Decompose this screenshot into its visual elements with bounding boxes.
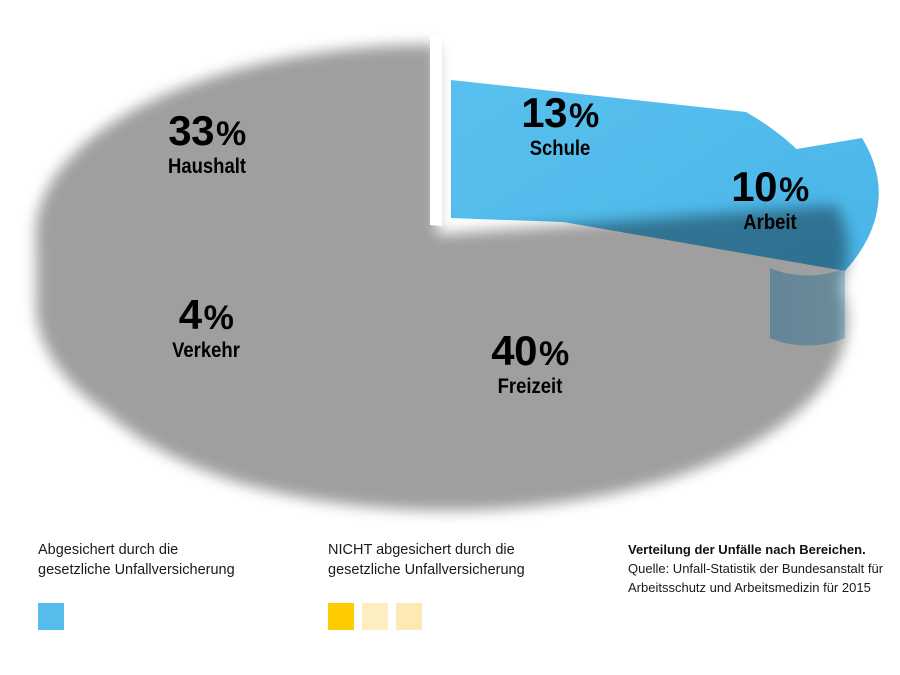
pie-explode-gap <box>430 35 442 226</box>
pie-chart-svg <box>0 0 900 530</box>
source-note-line1: Quelle: Unfall-Statistik der Bundesansta… <box>628 559 890 578</box>
legend-swatch-gold <box>328 603 354 630</box>
legend-not-insured-line1: NICHT abgesichert durch die <box>328 540 608 560</box>
legend-insured-swatches <box>38 603 64 630</box>
legend-insured-line1: Abgesichert durch die <box>38 540 308 560</box>
source-note-title: Verteilung der Unfälle nach Bereichen. <box>628 540 890 559</box>
legend-not-insured-line2: gesetzliche Unfallversicherung <box>328 560 608 580</box>
source-note: Verteilung der Unfälle nach Bereichen. Q… <box>628 540 890 597</box>
legend-insured-line2: gesetzliche Unfallversicherung <box>38 560 308 580</box>
pie-chart: 13% Schule 10% Arbeit 40% Freizeit 4% Ve… <box>0 0 900 530</box>
legend-swatch-cream-light <box>362 603 388 630</box>
chart-legend: Abgesichert durch die gesetzliche Unfall… <box>0 540 900 675</box>
infographic-root: 13% Schule 10% Arbeit 40% Freizeit 4% Ve… <box>0 0 900 675</box>
legend-item-insured: Abgesichert durch die gesetzliche Unfall… <box>38 540 308 580</box>
legend-item-insured-label: Abgesichert durch die gesetzliche Unfall… <box>38 540 308 580</box>
legend-item-not-insured-label: NICHT abgesichert durch die gesetzliche … <box>328 540 608 580</box>
source-note-line2: Arbeitsschutz und Arbeitsmedizin für 201… <box>628 578 890 597</box>
legend-item-not-insured: NICHT abgesichert durch die gesetzliche … <box>328 540 608 580</box>
legend-not-insured-swatches <box>328 603 422 630</box>
legend-swatch-cream-mid <box>396 603 422 630</box>
legend-swatch-blue <box>38 603 64 630</box>
